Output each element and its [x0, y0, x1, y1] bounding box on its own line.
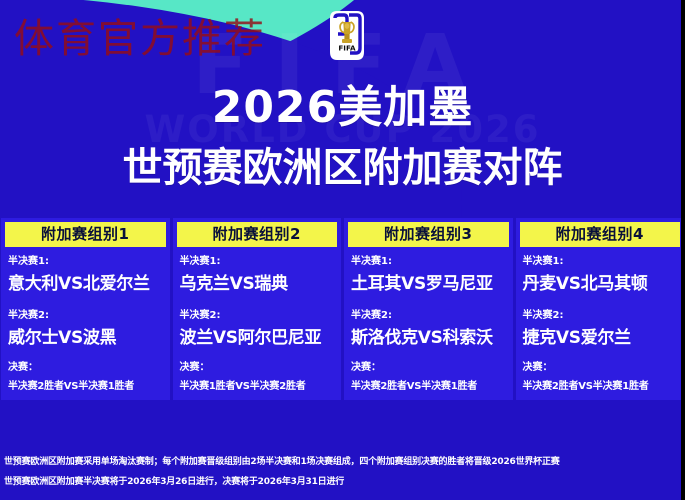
title-line-1: 2026美加墨	[0, 80, 685, 136]
semifinal-1-label: 半决赛1:	[8, 255, 163, 269]
final-label: 决赛：	[8, 361, 163, 375]
footer-notes: 世预赛欧洲区附加赛采用单场淘汰赛制；每个附加赛晋级组别由2场半决赛和1场决赛组成…	[0, 446, 685, 500]
playoff-groups-row: 附加赛组别1 半决赛1: 意大利VS北爱尔兰 半决赛2: 威尔士VS波黑 决赛：…	[0, 218, 685, 400]
semifinal-1-label: 半决赛1:	[523, 255, 678, 269]
final-match: 半决赛2胜者VS半决赛1胜者	[8, 380, 163, 394]
fifa-26-badge: FIFA	[327, 8, 367, 66]
semifinal-2-match: 波兰VS阿尔巴尼亚	[180, 327, 335, 349]
final-label: 决赛：	[351, 361, 506, 375]
title-line-2: 世预赛欧洲区附加赛对阵	[0, 142, 685, 194]
card-body: 半决赛1: 乌克兰VS瑞典 半决赛2: 波兰VS阿尔巴尼亚 决赛： 半决赛1胜者…	[177, 247, 338, 394]
card-title: 附加赛组别3	[348, 222, 509, 247]
semifinal-1-label: 半决赛1:	[351, 255, 506, 269]
final-match: 半决赛2胜者VS半决赛1胜者	[351, 380, 506, 394]
card-body: 半决赛1: 意大利VS北爱尔兰 半决赛2: 威尔士VS波黑 决赛： 半决赛2胜者…	[5, 247, 166, 394]
page-title: 2026美加墨 世预赛欧洲区附加赛对阵	[0, 80, 685, 194]
final-label: 决赛：	[523, 361, 678, 375]
card-body: 半决赛1: 丹麦VS北马其顿 半决赛2: 捷克VS爱尔兰 决赛： 半决赛2胜者V…	[520, 247, 681, 394]
right-edge-strip	[681, 0, 685, 500]
fifa-badge-label: FIFA	[338, 44, 356, 53]
semifinal-2-match: 斯洛伐克VS科索沃	[351, 327, 506, 349]
semifinal-1-match: 丹麦VS北马其顿	[523, 273, 678, 295]
semifinal-1-label: 半决赛1:	[180, 255, 335, 269]
semifinal-2-match: 威尔士VS波黑	[8, 327, 163, 349]
playoff-card-4[interactable]: 附加赛组别4 半决赛1: 丹麦VS北马其顿 半决赛2: 捷克VS爱尔兰 决赛： …	[516, 218, 685, 400]
footer-line-2: 世预赛欧洲区附加赛半决赛将于2026年3月26日进行，决赛将于2026年3月31…	[4, 472, 681, 492]
final-match: 半决赛2胜者VS半决赛1胜者	[523, 380, 678, 394]
card-title: 附加赛组别2	[177, 222, 338, 247]
semifinal-2-label: 半决赛2:	[8, 309, 163, 323]
fifa-badge-icon: FIFA	[327, 8, 367, 66]
poster-root: FIFA WORLD CUP 2026 体育官方推荐 FIFA 2026美加墨 …	[0, 0, 685, 500]
semifinal-2-label: 半决赛2:	[351, 309, 506, 323]
playoff-card-3[interactable]: 附加赛组别3 半决赛1: 土耳其VS罗马尼亚 半决赛2: 斯洛伐克VS科索沃 决…	[344, 218, 513, 400]
footer-line-1: 世预赛欧洲区附加赛采用单场淘汰赛制；每个附加赛晋级组别由2场半决赛和1场决赛组成…	[4, 452, 681, 472]
semifinal-1-match: 意大利VS北爱尔兰	[8, 273, 163, 295]
semifinal-1-match: 土耳其VS罗马尼亚	[351, 273, 506, 295]
final-match: 半决赛1胜者VS半决赛2胜者	[180, 380, 335, 394]
card-body: 半决赛1: 土耳其VS罗马尼亚 半决赛2: 斯洛伐克VS科索沃 决赛： 半决赛2…	[348, 247, 509, 394]
site-watermark: 体育官方推荐	[14, 6, 266, 64]
playoff-card-2[interactable]: 附加赛组别2 半决赛1: 乌克兰VS瑞典 半决赛2: 波兰VS阿尔巴尼亚 决赛：…	[173, 218, 342, 400]
semifinal-2-label: 半决赛2:	[180, 309, 335, 323]
final-label: 决赛：	[180, 361, 335, 375]
semifinal-2-match: 捷克VS爱尔兰	[523, 327, 678, 349]
semifinal-2-label: 半决赛2:	[523, 309, 678, 323]
card-title: 附加赛组别4	[520, 222, 681, 247]
card-title: 附加赛组别1	[5, 222, 166, 247]
playoff-card-1[interactable]: 附加赛组别1 半决赛1: 意大利VS北爱尔兰 半决赛2: 威尔士VS波黑 决赛：…	[1, 218, 170, 400]
semifinal-1-match: 乌克兰VS瑞典	[180, 273, 335, 295]
